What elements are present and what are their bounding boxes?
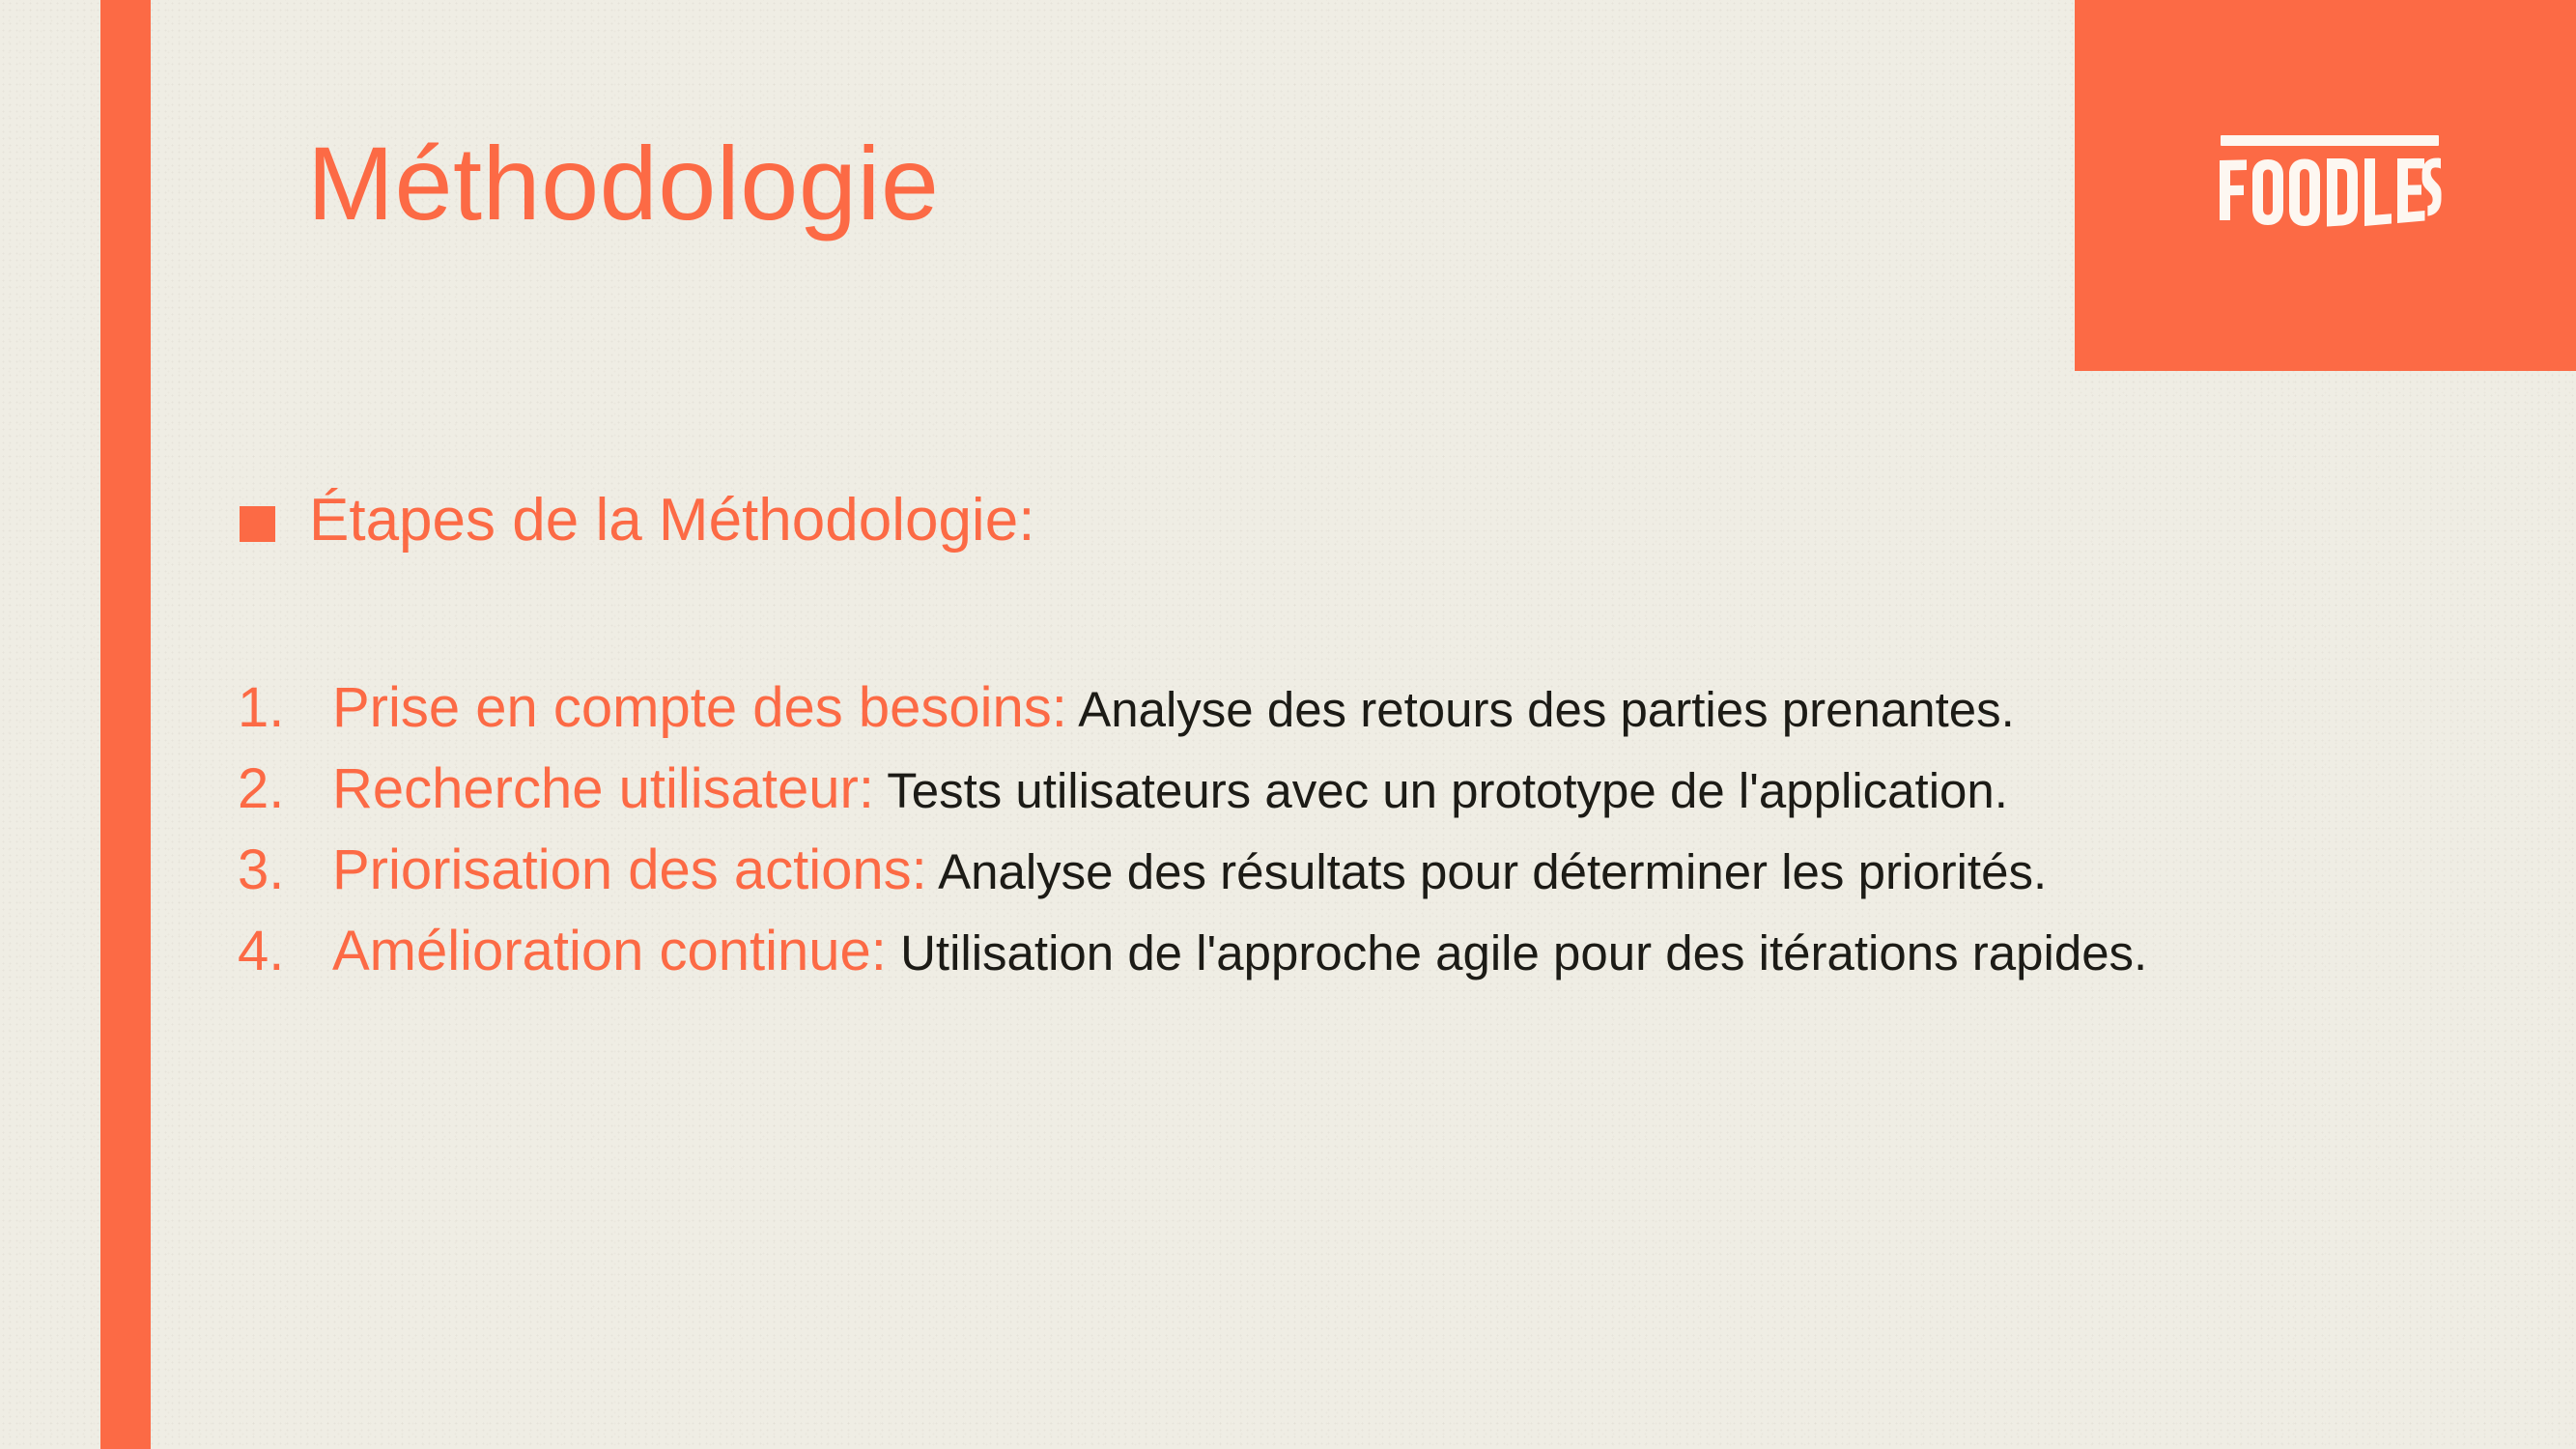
- step-number: 4.: [238, 920, 332, 983]
- section-heading: Étapes de la Méthodologie:: [240, 491, 1034, 551]
- step-number: 3.: [238, 838, 332, 902]
- step-number: 1.: [238, 676, 332, 740]
- step-description: [927, 844, 938, 899]
- step-description: [887, 925, 900, 980]
- step-content: Amélioration continue: Utilisation de l'…: [332, 920, 2488, 985]
- step-title: Priorisation des actions:: [332, 838, 927, 901]
- step-content: Prise en compte des besoins: Analyse des…: [332, 676, 2488, 742]
- list-item: 3. Priorisation des actions: Analyse des…: [238, 838, 2488, 904]
- step-title: Amélioration continue:: [332, 920, 887, 982]
- step-description-text: Analyse des résultats pour déterminer le…: [938, 844, 2047, 899]
- logo-rule-icon: [2221, 135, 2439, 146]
- brand-logo-block: [2075, 0, 2576, 371]
- logo-wordmark: [2218, 156, 2442, 232]
- list-item: 2. Recherche utilisateur: Tests utilisat…: [238, 757, 2488, 823]
- step-title: Prise en compte des besoins:: [332, 676, 1067, 739]
- section-heading-label: Étapes de la Méthodologie:: [309, 491, 1034, 551]
- step-title: Recherche utilisateur:: [332, 757, 874, 820]
- step-description-text: Utilisation de l'approche agile pour des…: [900, 925, 2147, 980]
- step-number: 2.: [238, 757, 332, 821]
- presentation-slide: Méthodologie Étapes de la Méthodologie: …: [0, 0, 2576, 1449]
- methodology-steps-list: 1. Prise en compte des besoins: Analyse …: [238, 676, 2488, 1001]
- square-bullet-icon: [240, 506, 275, 542]
- list-item: 4. Amélioration continue: Utilisation de…: [238, 920, 2488, 985]
- step-description-text: Tests utilisateurs avec un prototype de …: [887, 763, 2008, 818]
- step-description: [1067, 682, 1078, 737]
- left-accent-bar: [100, 0, 151, 1449]
- page-title: Méthodologie: [307, 131, 939, 236]
- step-content: Priorisation des actions: Analyse des ré…: [332, 838, 2488, 904]
- step-description: [874, 763, 887, 818]
- list-item: 1. Prise en compte des besoins: Analyse …: [238, 676, 2488, 742]
- step-content: Recherche utilisateur: Tests utilisateur…: [332, 757, 2488, 823]
- brand-logo: [2218, 135, 2442, 241]
- step-description-text: Analyse des retours des parties prenante…: [1078, 682, 2015, 737]
